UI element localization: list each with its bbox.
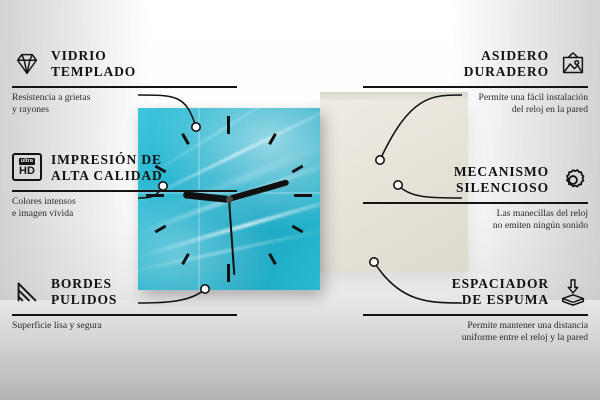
gear-icon	[558, 165, 588, 195]
feature-mecanismo-silencioso: MECANISMO SILENCIOSO Las manecillas del …	[363, 164, 588, 233]
feature-description: Las manecillas del reloj no emiten ningú…	[363, 208, 588, 233]
foam-spacer-icon	[558, 277, 588, 307]
feature-header: VIDRIO TEMPLADO	[12, 48, 237, 81]
clock-tick-3	[294, 194, 312, 197]
feature-bordes-pulidos: BORDES PULIDOS Superficie lisa y segura	[12, 276, 237, 332]
feature-divider	[363, 314, 588, 316]
feature-impresion-alta-calidad: ultra HD IMPRESIÓN DE ALTA CALIDAD Color…	[12, 152, 237, 221]
feature-header: ESPACIADOR DE ESPUMA	[363, 276, 588, 309]
feature-divider	[12, 314, 237, 316]
feature-divider	[12, 86, 237, 88]
feature-divider	[363, 202, 588, 204]
diamond-icon	[12, 49, 42, 79]
feature-title: ESPACIADOR DE ESPUMA	[452, 276, 549, 309]
clock-tick-11	[181, 133, 190, 145]
ultra-hd-icon: ultra HD	[12, 153, 42, 183]
feature-header: ultra HD IMPRESIÓN DE ALTA CALIDAD	[12, 152, 237, 185]
feature-title: ASIDERO DURADERO	[464, 48, 549, 81]
polished-edges-icon	[12, 277, 42, 307]
feature-espaciador-espuma: ESPACIADOR DE ESPUMA Permite mantener un…	[363, 276, 588, 345]
feature-description: Resistencia a grietas y rayones	[12, 92, 237, 117]
feature-title: IMPRESIÓN DE ALTA CALIDAD	[51, 152, 163, 185]
feature-description: Superficie lisa y segura	[12, 320, 237, 333]
feature-header: BORDES PULIDOS	[12, 276, 237, 309]
feature-divider	[12, 190, 237, 192]
feature-title: VIDRIO TEMPLADO	[51, 48, 136, 81]
feature-divider	[363, 86, 588, 88]
clock-tick-1	[268, 133, 277, 145]
feature-header: MECANISMO SILENCIOSO	[363, 164, 588, 197]
hd-badge-hd-label: HD	[19, 166, 35, 177]
feature-description: Permite una fácil instalación del reloj …	[363, 92, 588, 117]
feature-description: Colores intensos e imagen vívida	[12, 196, 237, 221]
feature-title: MECANISMO SILENCIOSO	[454, 164, 549, 197]
feature-header: ASIDERO DURADERO	[363, 48, 588, 81]
feature-vidrio-templado: VIDRIO TEMPLADO Resistencia a grietas y …	[12, 48, 237, 117]
clock-tick-5	[268, 253, 277, 265]
hd-badge-ultra-label: ultra	[19, 158, 35, 164]
clock-tick-12	[227, 116, 230, 134]
clock-tick-4	[292, 225, 304, 234]
feature-title: BORDES PULIDOS	[51, 276, 117, 309]
feature-asidero-duradero: ASIDERO DURADERO Permite una fácil insta…	[363, 48, 588, 117]
feature-description: Permite mantener una distancia uniforme …	[363, 320, 588, 345]
framed-picture-icon	[558, 49, 588, 79]
